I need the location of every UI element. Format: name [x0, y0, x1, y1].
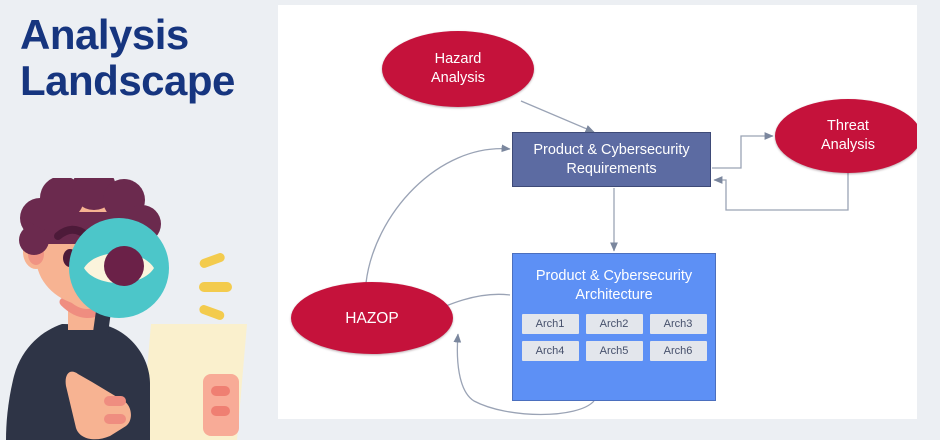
node-hazop[interactable]: HAZOP — [291, 282, 453, 354]
page-title: Analysis Landscape — [14, 12, 279, 104]
arch-chip[interactable]: Arch4 — [522, 341, 579, 361]
arch-chip[interactable]: Arch3 — [650, 314, 707, 334]
screenshot-root: Analysis Landscape — [0, 0, 940, 440]
node-threat-analysis[interactable]: Threat Analysis — [775, 99, 917, 173]
node-requirements-label-1: Product & Cybersecurity — [533, 141, 689, 160]
node-architecture-label-2: Architecture — [513, 286, 715, 305]
edge-hazop-to-requirements — [366, 149, 510, 283]
node-architecture-label-1: Product & Cybersecurity — [513, 267, 715, 286]
node-hazop-label: HAZOP — [345, 309, 398, 328]
person-with-magnifying-glass-illustration — [0, 178, 278, 440]
arch-chip[interactable]: Arch1 — [522, 314, 579, 334]
arch-chip[interactable]: Arch5 — [586, 341, 643, 361]
edge-threat-to-requirements — [714, 173, 848, 210]
arch-chip[interactable]: Arch6 — [650, 341, 707, 361]
arch-chip[interactable]: Arch2 — [586, 314, 643, 334]
diagram-panel: Hazard Analysis Threat Analysis HAZOP Pr… — [278, 5, 917, 419]
page-title-line-1: Analysis — [14, 12, 279, 58]
page-title-line-2: Landscape — [14, 58, 279, 104]
edge-hazard-to-requirements — [521, 101, 594, 132]
edge-requirements-to-threat — [712, 136, 773, 168]
node-hazard-analysis-label-1: Hazard — [431, 50, 485, 69]
magnifier-lens-icon — [69, 218, 169, 318]
node-threat-analysis-label-1: Threat — [821, 117, 875, 136]
node-threat-analysis-label-2: Analysis — [821, 136, 875, 155]
node-hazard-analysis[interactable]: Hazard Analysis — [382, 31, 534, 107]
node-product-cybersecurity-requirements[interactable]: Product & Cybersecurity Requirements — [512, 132, 711, 187]
architecture-chip-grid: Arch1 Arch2 Arch3 Arch4 Arch5 Arch6 — [522, 314, 707, 361]
node-product-cybersecurity-architecture[interactable]: Product & Cybersecurity Architecture Arc… — [512, 253, 716, 401]
node-requirements-label-2: Requirements — [566, 160, 656, 179]
node-hazard-analysis-label-2: Analysis — [431, 69, 485, 88]
left-panel: Analysis Landscape — [0, 0, 278, 440]
pink-tab-shape — [203, 374, 239, 436]
